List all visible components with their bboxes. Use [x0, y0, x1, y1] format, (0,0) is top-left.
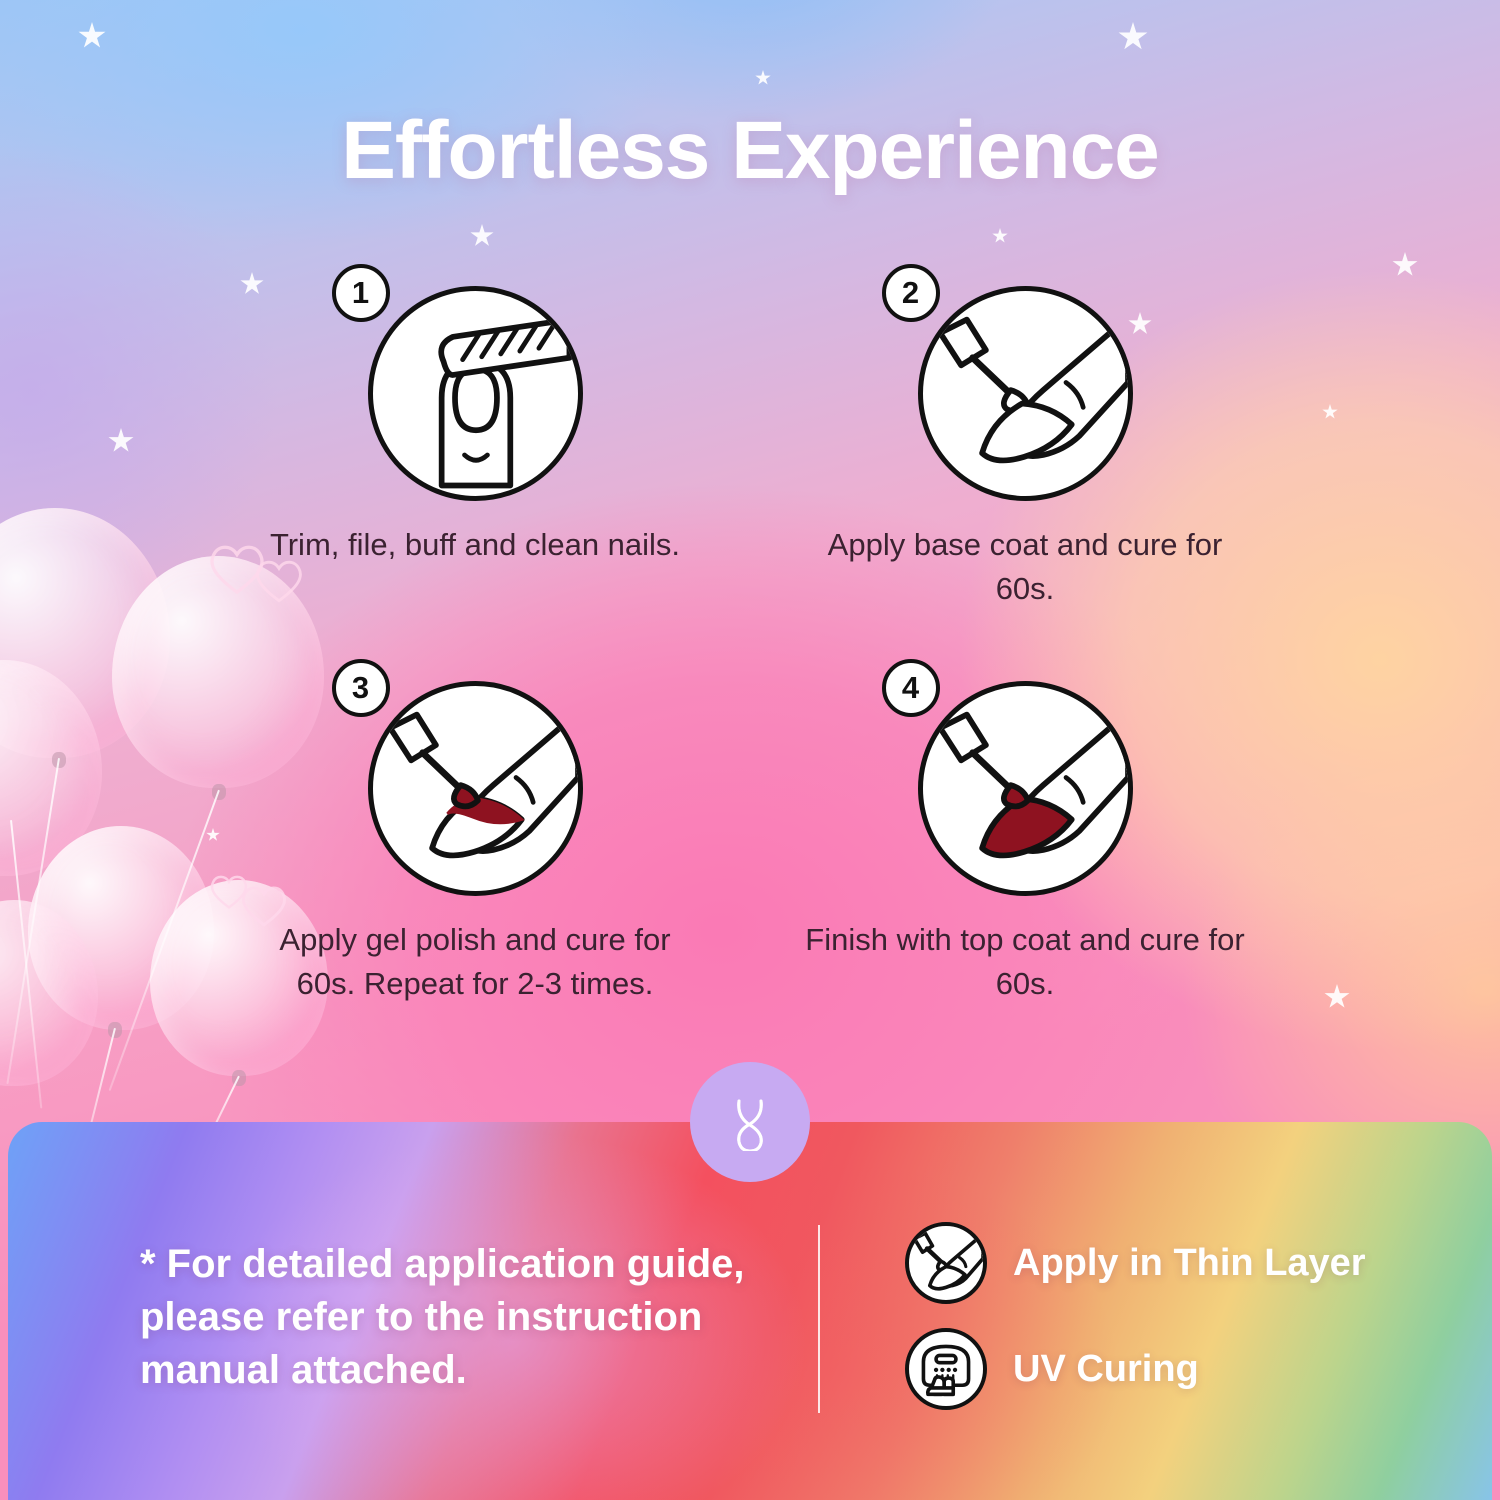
page-title: Effortless Experience	[0, 104, 1500, 198]
step-card: 4 Finish with top co	[750, 681, 1300, 1028]
feature-label: Apply in Thin Layer	[1013, 1242, 1366, 1285]
brand-logo-badge	[690, 1062, 810, 1182]
thin-layer-brush-icon	[905, 1222, 987, 1304]
step-number-badge: 2	[882, 264, 940, 322]
step-card: 3 Apply gel polish and	[200, 681, 750, 1028]
step-illustration-wrap: 3	[368, 681, 583, 896]
step-card: 2 Apply base coat and cure for	[750, 286, 1300, 633]
feature-item-thin-layer: Apply in Thin Layer	[905, 1222, 1366, 1304]
feature-item-uv-curing: UV Curing	[905, 1328, 1199, 1410]
steps-row: 3 Apply gel polish and	[200, 681, 1300, 1028]
steps-grid: 1	[200, 286, 1300, 1028]
step-caption: Trim, file, buff and clean nails.	[200, 523, 750, 567]
interlocking-loops-logo	[719, 1089, 781, 1156]
steps-row: 1	[200, 286, 1300, 633]
footer-divider	[818, 1225, 820, 1413]
step-number-badge: 3	[332, 659, 390, 717]
footer-note: * For detailed application guide, please…	[140, 1238, 800, 1396]
base-coat-brush-icon	[918, 286, 1133, 501]
step-number-badge: 1	[332, 264, 390, 322]
step-caption: Finish with top coat and cure for 60s.	[750, 918, 1300, 1006]
step-illustration-wrap: 1	[368, 286, 583, 501]
step-caption: Apply base coat and cure for 60s.	[750, 523, 1300, 611]
step-number-badge: 4	[882, 659, 940, 717]
step-illustration-wrap: 4	[918, 681, 1133, 896]
nail-file-icon	[368, 286, 583, 501]
top-coat-brush-icon	[918, 681, 1133, 896]
feature-label: UV Curing	[1013, 1348, 1199, 1391]
step-illustration-wrap: 2	[918, 286, 1133, 501]
uv-lamp-icon	[905, 1328, 987, 1410]
step-caption: Apply gel polish and cure for 60s. Repea…	[200, 918, 750, 1006]
step-card: 1	[200, 286, 750, 633]
gel-polish-brush-icon	[368, 681, 583, 896]
